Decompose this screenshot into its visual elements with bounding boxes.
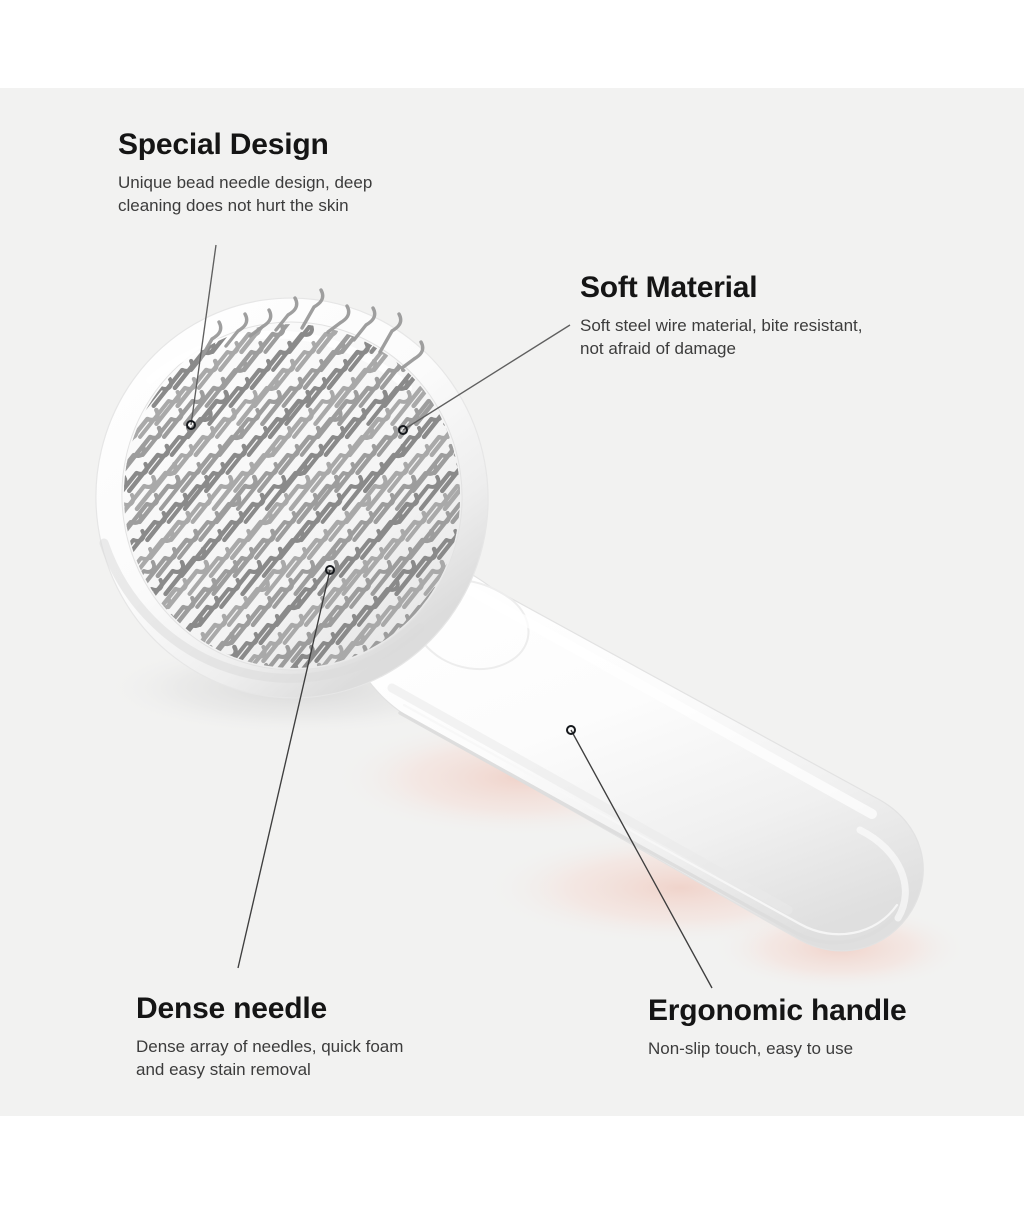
callout-special-design: Special Design Unique bead needle design… [118, 129, 372, 218]
callout-desc-special-design: Unique bead needle design, deep cleaning… [118, 171, 372, 218]
callout-desc-line2: and easy stain removal [136, 1060, 311, 1079]
callout-desc-ergonomic-handle: Non-slip touch, easy to use [648, 1037, 907, 1060]
product-illustration: rows generated below [0, 88, 1024, 1116]
callout-dense-needle: Dense needle Dense array of needles, qui… [136, 993, 403, 1082]
callout-desc-soft-material: Soft steel wire material, bite resistant… [580, 314, 863, 361]
callout-desc-line2: cleaning does not hurt the skin [118, 196, 349, 215]
callout-title-dense-needle: Dense needle [136, 993, 403, 1025]
callout-ergonomic-handle: Ergonomic handle Non-slip touch, easy to… [648, 995, 907, 1060]
infographic-canvas: rows generated below Special Design Uni [0, 0, 1024, 1224]
marker-special-design [186, 420, 196, 430]
callout-title-special-design: Special Design [118, 129, 372, 161]
callout-desc-dense-needle: Dense array of needles, quick foam and e… [136, 1035, 403, 1082]
callout-desc-line1: Unique bead needle design, deep [118, 173, 372, 192]
callout-desc-line1: Dense array of needles, quick foam [136, 1037, 403, 1056]
marker-dense-needle [325, 565, 335, 575]
callout-title-soft-material: Soft Material [580, 272, 863, 304]
callout-desc-line1: Non-slip touch, easy to use [648, 1039, 853, 1058]
callout-desc-line1: Soft steel wire material, bite resistant… [580, 316, 863, 335]
marker-soft-material [398, 425, 408, 435]
callout-title-ergonomic-handle: Ergonomic handle [648, 995, 907, 1027]
callout-soft-material: Soft Material Soft steel wire material, … [580, 272, 863, 361]
marker-ergonomic-handle [566, 725, 576, 735]
callout-desc-line2: not afraid of damage [580, 339, 736, 358]
